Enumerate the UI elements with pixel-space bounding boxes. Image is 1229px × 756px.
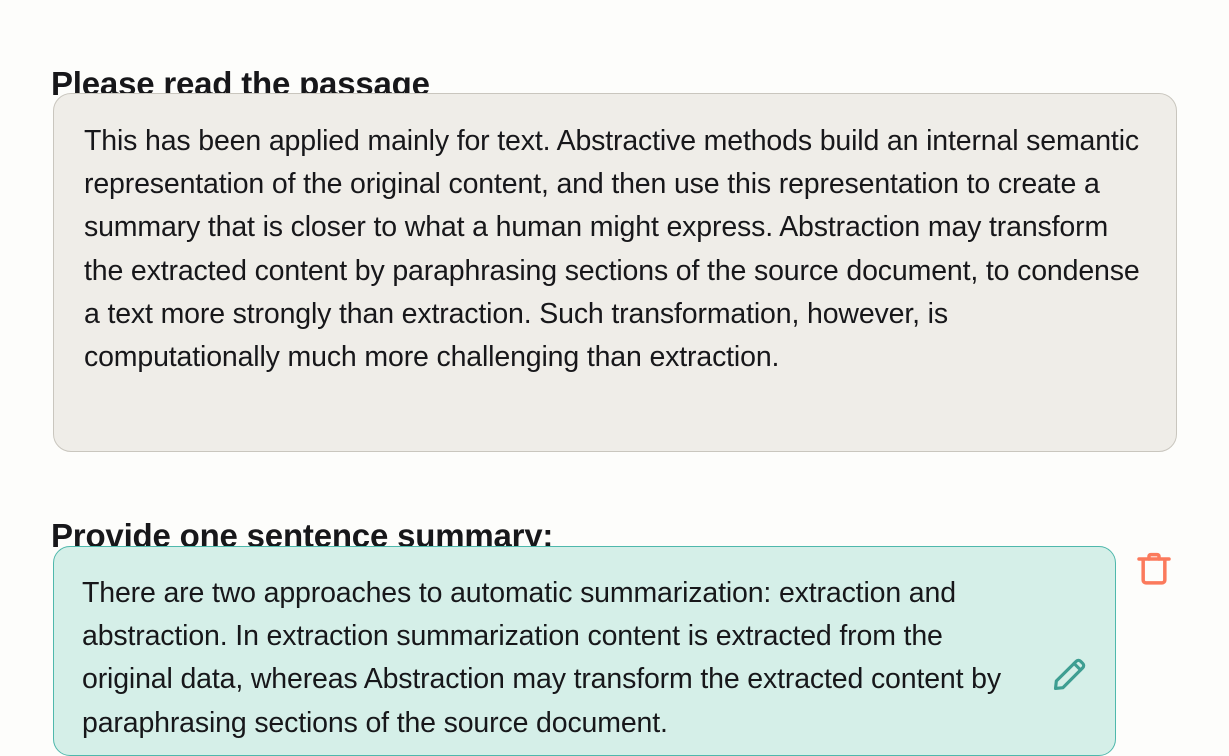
passage-card: This has been applied mainly for text. A… — [53, 93, 1177, 452]
trash-icon — [1134, 549, 1174, 592]
edit-button[interactable] — [1046, 653, 1092, 699]
summary-answer-text: There are two approaches to automatic su… — [82, 572, 1015, 745]
pencil-icon — [1050, 656, 1088, 697]
summary-answer-container: There are two approaches to automatic su… — [53, 546, 1116, 756]
summary-answer-card[interactable]: There are two approaches to automatic su… — [53, 546, 1116, 756]
task-page: Please read the passage This has been ap… — [0, 0, 1229, 756]
passage-text: This has been applied mainly for text. A… — [84, 120, 1146, 379]
delete-button[interactable] — [1131, 547, 1177, 593]
